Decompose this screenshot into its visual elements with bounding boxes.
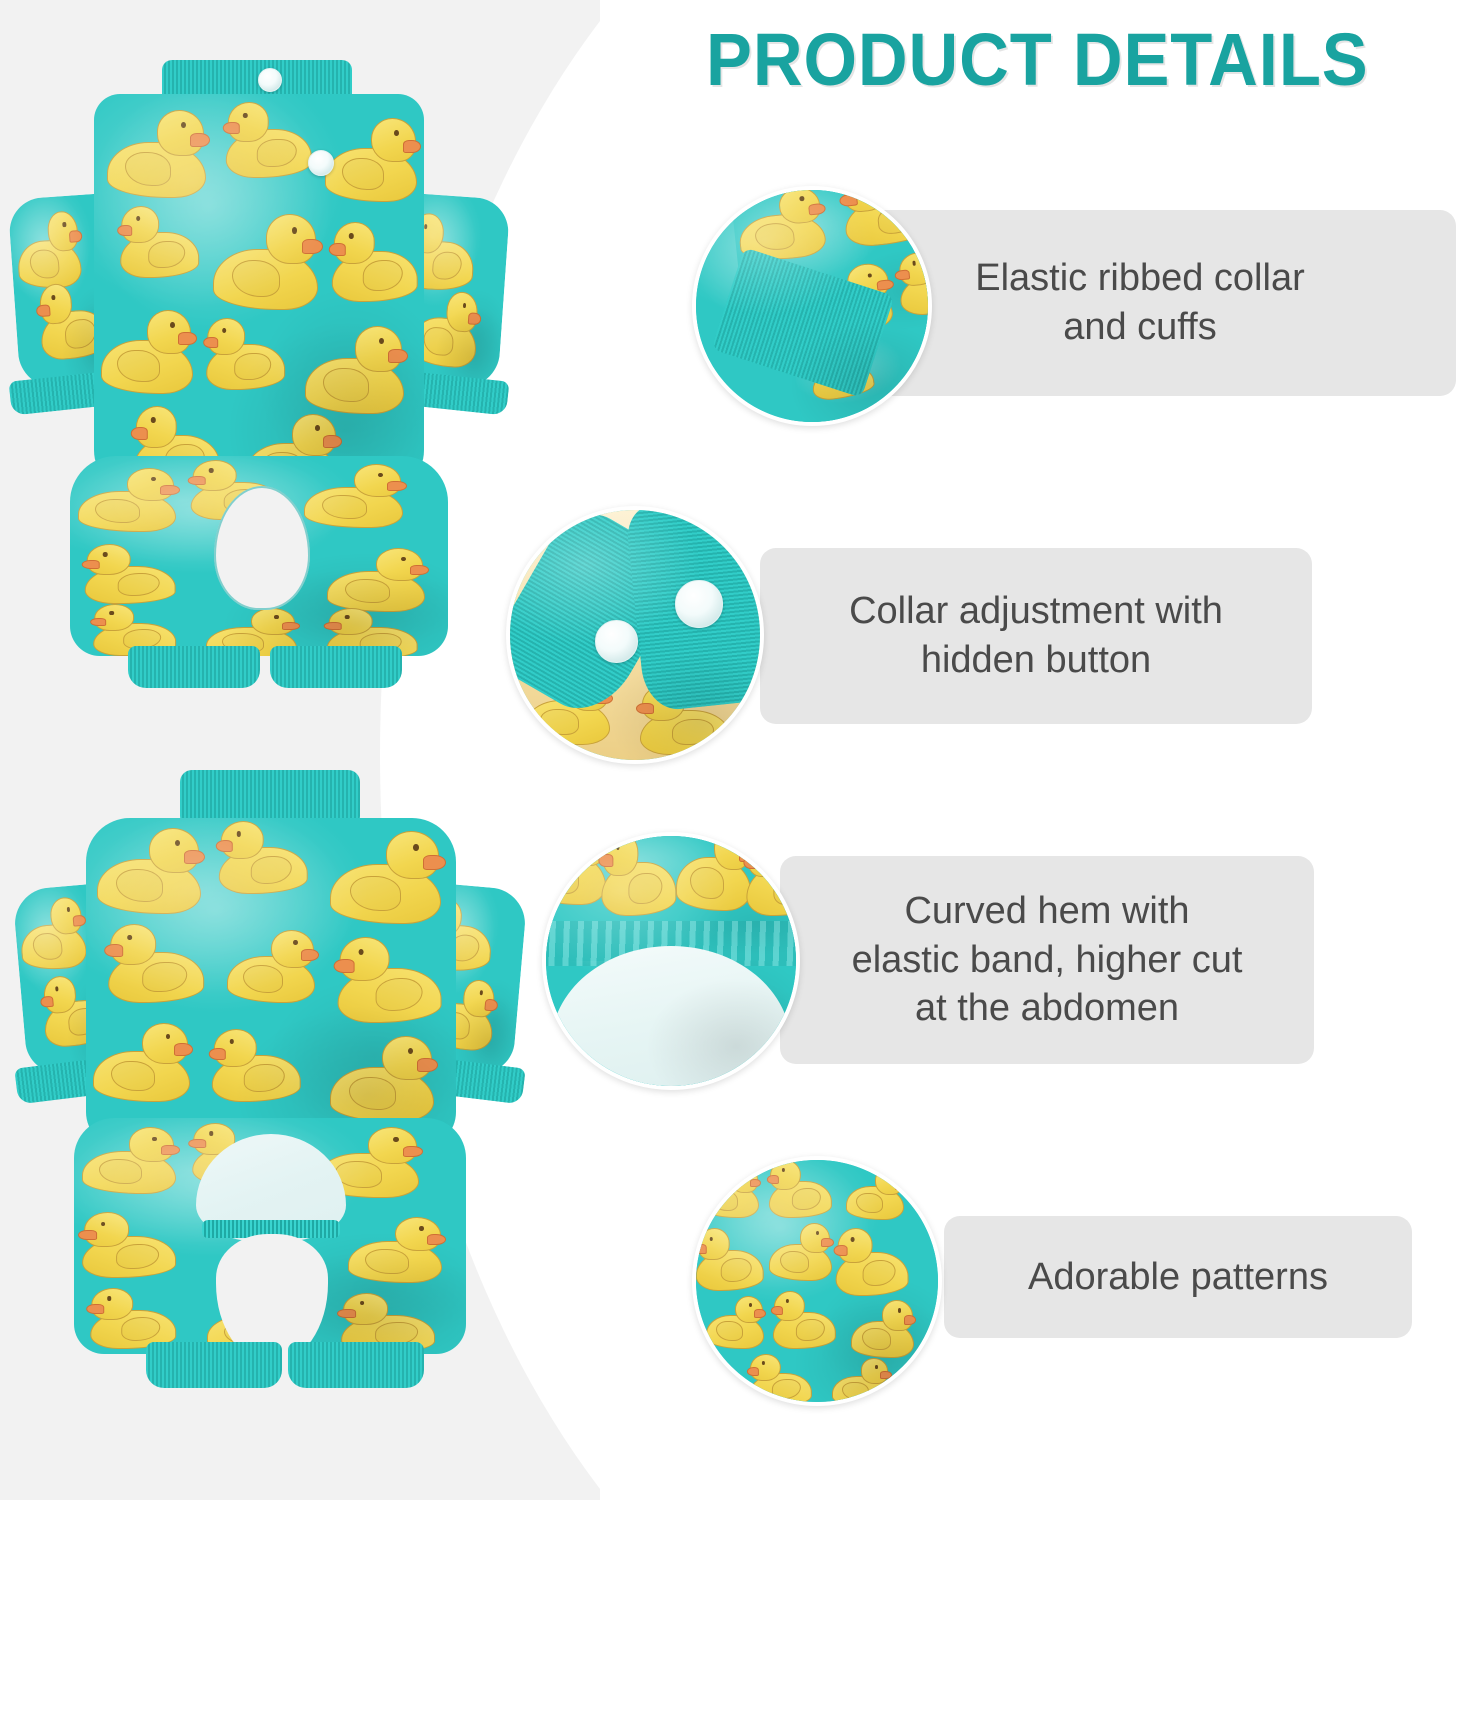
snap-button-chest [308,150,334,176]
detail-label-line: and cuffs [975,303,1304,352]
ribbed-cuff-photo [692,186,932,426]
duck-pattern-photo [692,1156,942,1406]
page-title: PRODUCT DETAILS [706,16,1424,104]
detail-label-line: at the abdomen [852,984,1243,1033]
torso-front [94,94,424,494]
leg-cuff-left-back [146,1342,282,1388]
product-photo-pajama-front [8,46,508,716]
leg-cuff-right [270,646,402,688]
infographic-canvas: PRODUCT DETAILS Elastic ribbed collar an… [0,0,1478,1500]
snap-button-collar [258,68,282,92]
detail-label-panel-3: Curved hem with elastic band, higher cut… [780,856,1314,1064]
detail-label-line: Curved hem with [852,887,1243,936]
hidden-button-photo [506,506,764,764]
detail-label-line: Adorable patterns [1028,1253,1328,1302]
detail-label-panel-2: Collar adjustment with hidden button [760,548,1312,724]
detail-label-line: elastic band, higher cut [852,936,1243,985]
hidden-snap-button-left [595,620,638,663]
product-photo-pajama-back [20,762,520,1462]
detail-label-line: Elastic ribbed collar [975,254,1304,303]
detail-label-panel-4: Adorable patterns [944,1216,1412,1338]
leg-cuff-left [128,646,260,688]
hidden-snap-button-right [675,580,723,628]
detail-label-line: hidden button [849,636,1223,685]
curved-hem-photo [542,832,800,1090]
detail-label-line: Collar adjustment with [849,587,1223,636]
leg-cuff-right-back [288,1342,424,1388]
torso-back [86,818,456,1148]
